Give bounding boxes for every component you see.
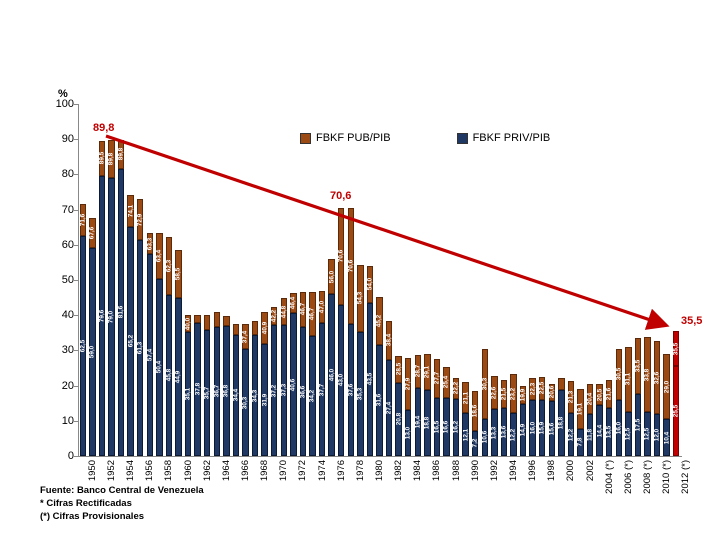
bar-segment-label-private: 25,5 xyxy=(673,405,680,417)
bar-segment-label-private: 35,3 xyxy=(357,388,364,400)
bar-segment-public: 22,5 xyxy=(539,377,545,400)
footnotes: Fuente: Banco Central de Venezuela * Cif… xyxy=(40,484,204,523)
bar-segment-private: 57,4 xyxy=(147,254,153,456)
bar-segment-label-total: 58,5 xyxy=(175,268,182,280)
bar-column[interactable]: 42,237,2 xyxy=(271,307,277,456)
bar-segment-private: 12,5 xyxy=(625,412,631,456)
y-tick-mark xyxy=(74,456,78,457)
x-tick-label: 1950 xyxy=(87,460,98,481)
bar-segment-label-total: 46,4 xyxy=(290,297,297,309)
bar-segment-label-private: 16,0 xyxy=(615,422,622,434)
x-tick-label: 1986 xyxy=(431,460,442,481)
bar-segment-private: 12,2 xyxy=(568,413,574,456)
x-tick-label: 1956 xyxy=(144,460,155,481)
y-tick-label: 80 xyxy=(62,168,74,180)
bar-segment-label-private: 31,9 xyxy=(261,394,268,406)
bar-segment-public: 72,9 xyxy=(137,199,143,240)
bar-segment-public: 46,7 xyxy=(300,292,306,328)
bar-segment-public: 25,4 xyxy=(443,367,449,398)
bar-segment-public: 56,0 xyxy=(328,259,334,294)
bar-segment-label-private: 12,0 xyxy=(654,429,661,441)
bar-segment-label-private: 34,2 xyxy=(309,390,316,402)
x-tick-label: 1970 xyxy=(278,460,289,481)
bar-column[interactable]: 33,517,5 xyxy=(635,338,641,456)
bar-segment-private: 18,8 xyxy=(424,390,430,456)
bar-column[interactable]: 56,046,0 xyxy=(328,259,334,456)
bar-segment-label-private: 12,2 xyxy=(567,428,574,440)
bar-column[interactable]: 70,637,6 xyxy=(348,208,354,457)
bar-column[interactable]: 29,010,4 xyxy=(663,354,669,456)
bar-segment-public: 27,7 xyxy=(434,359,440,398)
bar-segment-public: 33,5 xyxy=(635,338,641,394)
bar-segment-label-total: 40,0 xyxy=(185,318,192,330)
bar-segment-private: 45,8 xyxy=(166,295,172,456)
bar-segment-label-private: 31,6 xyxy=(376,394,383,406)
bar-segment-label-private: 20,8 xyxy=(395,413,402,425)
bar-segment-private: 37,6 xyxy=(348,324,354,456)
bar-segment-private: 36,6 xyxy=(300,327,306,456)
bar-segment-label-total: 31,1 xyxy=(625,373,632,385)
x-tick-label: 2002 xyxy=(585,460,596,481)
bar-column[interactable]: 35,7 xyxy=(204,315,210,456)
legend-label-priv: FBKF PRIV/PIB xyxy=(473,132,551,144)
plot-area: 71,662,567,659,089,579,689,879,089,881,6… xyxy=(78,104,681,456)
bar-column[interactable]: 89,879,0 xyxy=(108,140,114,456)
bar-segment-label-total: 18,6 xyxy=(472,404,479,416)
bar-segment-label-private: 36,6 xyxy=(299,385,306,397)
bar-segment-label-private: 81,6 xyxy=(118,306,125,318)
footnote-provisionales: (*) Cifras Provisionales xyxy=(40,510,204,523)
bar-segment-private: 12,0 xyxy=(654,414,660,456)
bar-segment-label-private: 30,3 xyxy=(242,396,249,408)
legend-swatch-icon-pub xyxy=(300,133,311,144)
bar-segment-public xyxy=(233,324,239,335)
bar-column[interactable]: 21,312,2 xyxy=(568,381,574,456)
bar-column[interactable]: 37,430,3 xyxy=(242,324,248,456)
bar-segment-private: 15,6 xyxy=(549,401,555,456)
bar-segment-label-total: 30,5 xyxy=(615,368,622,380)
bar-segment-private: 14,4 xyxy=(596,405,602,456)
y-tick-label: 70 xyxy=(62,204,74,216)
bar-column[interactable]: 58,544,9 xyxy=(175,250,181,456)
bar-column[interactable]: 36,8 xyxy=(223,316,229,456)
bar-segment-label-total: 89,8 xyxy=(118,148,125,160)
bar-segment-label-private: 13,5 xyxy=(606,426,613,438)
bar-column[interactable]: 54,043,5 xyxy=(367,266,373,456)
bar-segment-public: 30,3 xyxy=(482,349,488,418)
bar-segment-label-total: 33,8 xyxy=(644,368,651,380)
bar-segment-label-total: 42,2 xyxy=(271,310,278,322)
bar-segment-public: 18,6 xyxy=(472,391,478,431)
x-tick-label: 1998 xyxy=(546,460,557,481)
bar-segment-private: 43,5 xyxy=(367,303,373,456)
bar-segment-private: 62,5 xyxy=(80,236,86,456)
bar-segment-label-private: 14,4 xyxy=(596,424,603,436)
x-tick-label: 2006 (*) xyxy=(623,460,634,494)
bar-column[interactable]: 38,427,4 xyxy=(386,321,392,456)
bar-segment-public: 71,6 xyxy=(80,204,86,236)
bar-segment-public: 22,6 xyxy=(491,376,497,409)
bar-segment-public: 22,2 xyxy=(453,378,459,399)
x-tick-label: 1962 xyxy=(202,460,213,481)
bar-column[interactable]: 19,914,9 xyxy=(520,386,526,456)
x-tick-label: 1982 xyxy=(393,460,404,481)
bar-segment-label-private: 37,2 xyxy=(271,384,278,396)
bar-segment-private: 44,9 xyxy=(175,298,181,456)
bar-segment-label-private: 36,8 xyxy=(223,385,230,397)
bar-segment-private: 14,9 xyxy=(520,404,526,456)
bar-segment-label-total: 46,7 xyxy=(309,307,316,319)
x-tick-label: 1958 xyxy=(163,460,174,481)
x-axis-line xyxy=(78,456,682,457)
bar-segment-label-private: 12,1 xyxy=(462,428,469,440)
bar-column[interactable]: 62,345,8 xyxy=(166,237,172,456)
bar-segment-public: 46,4 xyxy=(290,293,296,313)
bar-column[interactable]: 22,316,0 xyxy=(529,378,535,456)
bar-segment-label-private: 15,9 xyxy=(539,422,546,434)
bar-segment-label-private: 59,0 xyxy=(89,346,96,358)
bar-segment-public xyxy=(252,321,258,335)
y-tick-label: 20 xyxy=(62,380,74,392)
bar-segment-private: 15,9 xyxy=(539,400,545,456)
y-tick-label: 30 xyxy=(62,344,74,356)
bar-column[interactable]: 34,3 xyxy=(252,321,258,456)
bar-segment-public: 21,6 xyxy=(606,380,612,409)
bar-segment-label-total: 19,1 xyxy=(577,402,584,414)
bar-column[interactable]: 89,579,6 xyxy=(99,141,105,456)
y-tick-label: 60 xyxy=(62,239,74,251)
bar-segment-label-total: 27,7 xyxy=(433,372,440,384)
bar-column[interactable]: 21,513,6 xyxy=(501,380,507,456)
bar-column[interactable]: 30,516,0 xyxy=(616,349,622,456)
bar-segment-public: 46,7 xyxy=(309,292,315,336)
y-axis-tick-labels: 1009080706050403020100 xyxy=(40,96,74,464)
bar-column[interactable]: 28,520,8 xyxy=(395,356,401,456)
x-tick-label: 1980 xyxy=(374,460,385,481)
bar-segment-public xyxy=(223,316,229,326)
bar-segment-label-total: 21,3 xyxy=(567,391,574,403)
legend-item-fbkf-pub[interactable]: FBKF PUB/PIB xyxy=(300,132,391,144)
bar-column[interactable]: 20,514,4 xyxy=(596,384,602,456)
bar-segment-label-total: 21,6 xyxy=(606,388,613,400)
bar-segment-label-private: 15,6 xyxy=(548,422,555,434)
bar-segment-label-total: 71,6 xyxy=(79,214,86,226)
bar-segment-private: 34,3 xyxy=(252,335,258,456)
bar-segment-private: 65,2 xyxy=(127,227,133,457)
bar-segment-public: 28,7 xyxy=(415,355,421,388)
legend-swatch-icon-priv xyxy=(457,133,468,144)
bar-column[interactable]: 46,736,6 xyxy=(300,292,306,456)
x-tick-label: 1952 xyxy=(106,460,117,481)
bar-segment-public: 37,4 xyxy=(242,324,248,349)
bar-column[interactable]: 40,931,9 xyxy=(261,312,267,456)
bar-segment-label-total: 54,3 xyxy=(357,292,364,304)
bar-segment-private: 46,0 xyxy=(328,294,334,456)
bar-column[interactable]: 33,812,5 xyxy=(644,337,650,456)
bar-segment-private: 35,1 xyxy=(185,332,191,456)
bar-column[interactable]: 18,8 xyxy=(558,378,564,456)
bar-segment-private: 13,6 xyxy=(501,408,507,456)
bar-segment-public: 45,2 xyxy=(376,297,382,345)
bar-segment-public: 29,1 xyxy=(424,354,430,390)
bar-segment-label-total: 29,1 xyxy=(424,365,431,377)
bar-segment-private: 35,3 xyxy=(357,332,363,456)
bar-column[interactable]: 35,525,5 xyxy=(673,331,679,456)
bar-segment-private: 7,8 xyxy=(577,429,583,456)
bar-column[interactable]: 27,913,0 xyxy=(405,358,411,456)
x-tick-label: 1978 xyxy=(355,460,366,481)
bar-segment-label-private: 12,5 xyxy=(625,428,632,440)
bar-column[interactable]: 20,411,8 xyxy=(587,384,593,456)
bar-segment-private: 79,6 xyxy=(99,176,105,456)
bar-column[interactable]: 44,837,3 xyxy=(281,298,287,456)
bar-segment-private: 27,4 xyxy=(386,360,392,456)
bar-segment-label-private: 37,7 xyxy=(319,383,326,395)
bar-segment-label-private: 40,6 xyxy=(290,378,297,390)
bar-segment-label-total: 72,9 xyxy=(137,214,144,226)
bar-segment-private: 16,0 xyxy=(529,400,535,456)
bar-segment-label-total: 22,5 xyxy=(539,382,546,394)
bar-segment-private: 13,0 xyxy=(405,410,411,456)
bar-segment-label-total: 38,4 xyxy=(386,334,393,346)
bar-segment-public: 89,8 xyxy=(108,140,114,178)
bar-segment-label-total: 62,3 xyxy=(165,260,172,272)
bar-segment-label-private: 43,0 xyxy=(338,374,345,386)
bar-segment-public: 74,1 xyxy=(127,195,133,226)
bar-segment-public: 27,9 xyxy=(405,358,411,410)
x-tick-label: 2010 (*) xyxy=(661,460,672,494)
x-tick-label: 1964 xyxy=(221,460,232,481)
bar-segment-label-private: 57,4 xyxy=(146,349,153,361)
bar-column[interactable]: 32,612,0 xyxy=(654,341,660,456)
bar-column[interactable]: 18,67,2 xyxy=(472,391,478,456)
x-tick-label: 2000 xyxy=(565,460,576,481)
x-tick-label: 1984 xyxy=(412,460,423,481)
bar-column[interactable]: 25,416,6 xyxy=(443,367,449,456)
bar-column[interactable]: 28,719,4 xyxy=(415,355,421,456)
bar-segment-private: 37,3 xyxy=(281,325,287,456)
bar-segment-label-total: 22,2 xyxy=(453,382,460,394)
bar-column[interactable]: 46,734,2 xyxy=(309,292,315,456)
bar-segment-label-total: 33,5 xyxy=(634,360,641,372)
bar-segment-private: 16,5 xyxy=(434,398,440,456)
bar-segment-private: 20,8 xyxy=(395,383,401,456)
bar-segment-label-private: 62,5 xyxy=(79,340,86,352)
bar-segment-private: 25,5 xyxy=(673,366,679,456)
bar-segment-public: 29,0 xyxy=(663,354,669,419)
bar-segment-label-total: 28,5 xyxy=(395,363,402,375)
bar-segment-label-private: 16,2 xyxy=(453,421,460,433)
bar-segment-private: 40,6 xyxy=(290,313,296,456)
bar-column[interactable]: 72,961,3 xyxy=(137,199,143,456)
bar-column[interactable]: 22,613,3 xyxy=(491,376,497,456)
bar-column[interactable]: 27,716,5 xyxy=(434,359,440,457)
bar-segment-label-total: 63,3 xyxy=(146,237,153,249)
x-tick-label: 1992 xyxy=(489,460,500,481)
bar-column[interactable]: 34,4 xyxy=(233,324,239,456)
bar-column[interactable]: 47,037,7 xyxy=(319,291,325,456)
bar-segment-label-private: 37,8 xyxy=(194,383,201,395)
bar-segment-public: 21,3 xyxy=(568,381,574,413)
bar-segment-public: 28,5 xyxy=(395,356,401,383)
bar-column[interactable]: 36,7 xyxy=(214,312,220,456)
bar-segment-label-private: 46,0 xyxy=(328,369,335,381)
bar-segment-label-total: 70,6 xyxy=(338,250,345,262)
bar-segment-label-private: 10,4 xyxy=(663,431,670,443)
bar-segment-label-private: 50,4 xyxy=(156,361,163,373)
bar-column[interactable]: 71,662,5 xyxy=(80,204,86,456)
bar-column[interactable]: 23,212,2 xyxy=(510,374,516,456)
bar-segment-label-private: 35,7 xyxy=(204,387,211,399)
bar-segment-public: 20,5 xyxy=(596,384,602,405)
bar-segment-private: 10,4 xyxy=(663,419,669,456)
bar-segment-label-total: 25,4 xyxy=(443,376,450,388)
bar-segment-label-private: 43,5 xyxy=(366,373,373,385)
bar-column[interactable]: 30,310,6 xyxy=(482,349,488,456)
bar-segment-public: 70,6 xyxy=(348,208,354,324)
bar-column[interactable]: 67,659,0 xyxy=(89,218,95,456)
bar-segment-public: 54,3 xyxy=(357,265,363,332)
bar-segment-private: 37,8 xyxy=(194,323,200,456)
bar-segment-label-private: 19,4 xyxy=(414,416,421,428)
bar-column[interactable]: 40,035,1 xyxy=(185,315,191,456)
bar-segment-public: 30,5 xyxy=(616,349,622,400)
bar-column[interactable]: 29,118,8 xyxy=(424,354,430,456)
bar-segment-private: 50,4 xyxy=(156,279,162,456)
bar-column[interactable]: 45,231,6 xyxy=(376,297,382,456)
x-tick-label: 1988 xyxy=(451,460,462,481)
bar-segment-private: 19,4 xyxy=(415,388,421,456)
bar-segment-label-total: 40,9 xyxy=(261,322,268,334)
x-tick-label: 2004 (*) xyxy=(604,460,615,494)
bar-segment-label-total: 70,6 xyxy=(347,259,354,271)
bar-segment-public: 67,6 xyxy=(89,218,95,248)
bar-segment-private: 43,0 xyxy=(338,305,344,456)
bar-column[interactable]: 89,881,6 xyxy=(118,140,124,456)
bar-segment-private: 30,3 xyxy=(242,349,248,456)
bar-segment-public: 42,2 xyxy=(271,307,277,325)
bar-segment-public xyxy=(214,312,220,327)
x-tick-label: 1996 xyxy=(527,460,538,481)
bar-segment-private: 17,5 xyxy=(635,394,641,456)
annotation-peak-1977: 70,6 xyxy=(330,190,351,202)
bar-column[interactable]: 22,515,9 xyxy=(539,377,545,456)
bar-segment-private: 37,7 xyxy=(319,323,325,456)
bar-segment-label-total: 63,4 xyxy=(156,249,163,261)
bar-segment-label-total: 21,1 xyxy=(462,391,469,403)
bar-segment-public: 63,4 xyxy=(156,233,162,279)
bar-segment-public: 20,4 xyxy=(587,384,593,414)
bar-column[interactable]: 70,643,0 xyxy=(338,208,344,457)
bar-column[interactable]: 31,112,5 xyxy=(625,347,631,456)
bar-segment-label-total: 20,4 xyxy=(587,393,594,405)
bar-segment-label-total: 23,2 xyxy=(510,387,517,399)
bar-segment-public: 70,6 xyxy=(338,208,344,305)
x-tick-label: 1976 xyxy=(336,460,347,481)
bar-segment-public: 32,6 xyxy=(654,341,660,414)
bar-segment-label-total: 19,9 xyxy=(520,389,527,401)
annotation-peak-1953: 89,8 xyxy=(93,122,114,134)
bar-segment-label-private: 37,3 xyxy=(280,384,287,396)
bar-segment-private: 13,5 xyxy=(606,408,612,456)
bar-segment-private: 31,9 xyxy=(261,344,267,456)
bar-segment-private: 16,2 xyxy=(453,399,459,456)
bar-column[interactable]: 74,165,2 xyxy=(127,195,133,456)
bar-segment-label-total: 45,2 xyxy=(376,315,383,327)
legend-item-fbkf-priv[interactable]: FBKF PRIV/PIB xyxy=(457,132,551,144)
bar-segment-label-private: 12,2 xyxy=(510,428,517,440)
bar-segment-private: 16,6 xyxy=(443,398,449,456)
bar-segment-label-private: 17,5 xyxy=(634,419,641,431)
bar-segment-label-total: 27,9 xyxy=(405,378,412,390)
bar-column[interactable]: 21,112,1 xyxy=(462,382,468,456)
x-tick-label: 1994 xyxy=(508,460,519,481)
bar-segment-label-total: 28,7 xyxy=(414,365,421,377)
bar-column[interactable]: 22,216,2 xyxy=(453,378,459,456)
bar-segment-public: 31,1 xyxy=(625,347,631,412)
bar-segment-label-private: 13,6 xyxy=(500,426,507,438)
y-tick-label: 90 xyxy=(62,133,74,145)
y-tick-label: 10 xyxy=(62,415,74,427)
bar-column[interactable]: 37,8 xyxy=(194,315,200,456)
bar-segment-public: 63,3 xyxy=(147,233,153,254)
bar-segment-label-private: 16,5 xyxy=(433,421,440,433)
bar-segment-private: 12,5 xyxy=(644,412,650,456)
bar-column[interactable]: 20,615,6 xyxy=(549,384,555,457)
bar-segment-private: 11,8 xyxy=(587,414,593,456)
bar-segment-label-private: 10,6 xyxy=(481,431,488,443)
bar-segment-private: 18,8 xyxy=(558,390,564,456)
bar-segment-label-total: 30,3 xyxy=(481,378,488,390)
bar-segment-private: 79,0 xyxy=(108,178,114,456)
bar-segment-label-total: 67,6 xyxy=(89,227,96,239)
bar-column[interactable]: 54,335,3 xyxy=(357,265,363,456)
bar-column[interactable]: 46,440,6 xyxy=(290,293,296,456)
bar-segment-label-total: 20,5 xyxy=(596,388,603,400)
annotation-end-2012: 35,5 xyxy=(681,315,702,327)
y-tick-label: 40 xyxy=(62,309,74,321)
bar-segment-label-private: 14,9 xyxy=(520,424,527,436)
footnote-rectificadas: * Cifras Rectificadas xyxy=(40,497,204,510)
bar-segment-public: 47,0 xyxy=(319,291,325,324)
bar-segment-private: 34,4 xyxy=(233,335,239,456)
bar-segment-public xyxy=(204,315,210,330)
bar-segment-public: 20,6 xyxy=(549,384,555,402)
footnote-source: Fuente: Banco Central de Venezuela xyxy=(40,484,204,497)
bar-segment-public: 62,3 xyxy=(166,237,172,295)
bar-segment-label-total: 20,6 xyxy=(548,386,555,398)
bar-column[interactable]: 63,450,4 xyxy=(156,233,162,456)
bar-column[interactable]: 19,17,8 xyxy=(577,389,583,456)
bar-column[interactable]: 21,613,5 xyxy=(606,380,612,456)
bar-segment-private: 36,8 xyxy=(223,326,229,456)
bar-segment-label-total: 47,0 xyxy=(319,301,326,313)
bar-segment-private: 10,6 xyxy=(482,419,488,456)
bar-segment-label-total: 32,6 xyxy=(654,371,661,383)
bar-segment-label-private: 12,5 xyxy=(644,428,651,440)
bar-segment-private: 31,6 xyxy=(376,345,382,456)
bar-segment-public: 21,1 xyxy=(462,382,468,414)
bar-segment-private: 34,2 xyxy=(309,336,315,456)
bar-segment-label-private: 36,7 xyxy=(213,385,220,397)
bar-column[interactable]: 63,357,4 xyxy=(147,233,153,456)
bar-segment-public: 19,1 xyxy=(577,389,583,429)
bar-segment-private: 81,6 xyxy=(118,169,124,456)
bar-segment-label-private: 16,0 xyxy=(529,422,536,434)
bar-segment-label-total: 22,6 xyxy=(491,387,498,399)
bar-segment-private: 7,2 xyxy=(472,431,478,456)
bar-segment-label-total: 89,5 xyxy=(98,152,105,164)
